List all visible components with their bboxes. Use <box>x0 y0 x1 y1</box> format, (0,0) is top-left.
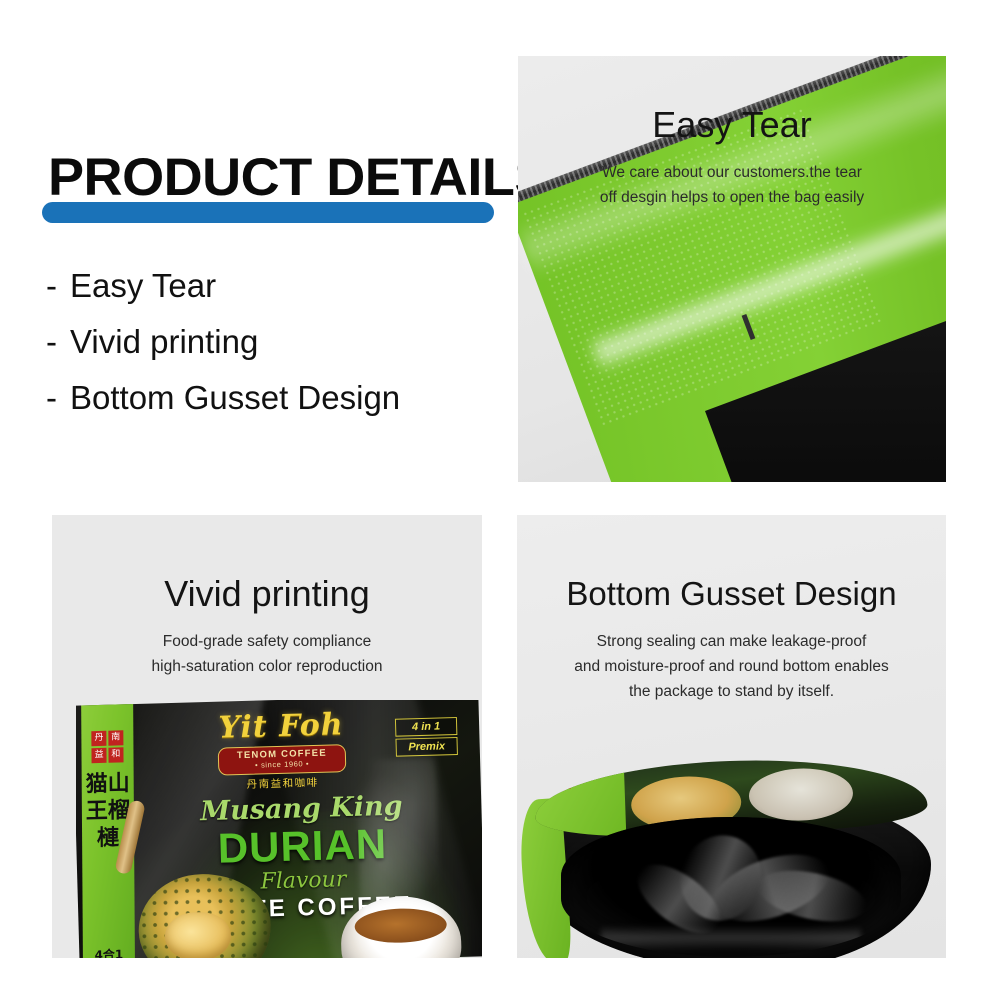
panel-subtitle-line: off desgin helps to open the bag easily <box>518 185 946 210</box>
list-item-label: Vivid printing <box>70 314 258 370</box>
badge-line2: Premix <box>395 737 457 757</box>
panel-subtitle: Food-grade safety compliance high-satura… <box>52 629 482 679</box>
panel-subtitle: Strong sealing can make leakage-proof an… <box>517 629 946 704</box>
panel-title: Bottom Gusset Design <box>517 573 946 615</box>
panel-easy-tear: Easy Tear We care about our customers.th… <box>518 56 946 482</box>
pouch-open-mouth <box>561 817 901 957</box>
package-front: 丹 南 益 和 猫山王榴槤 4合1 Yit Foh TENOM COFFEE •… <box>76 700 482 958</box>
panel-vivid-printing: Vivid printing Food-grade safety complia… <box>52 515 482 958</box>
list-item-label: Bottom Gusset Design <box>70 370 400 426</box>
coffee-liquid <box>354 907 447 944</box>
panel-subtitle-line: high-saturation color reproduction <box>52 654 482 679</box>
pouch-gloss <box>601 925 861 951</box>
list-item-label: Easy Tear <box>70 258 216 314</box>
premix-badge: 4 in 1 Premix <box>395 717 458 757</box>
badge-line1: 4 in 1 <box>395 717 457 737</box>
heading-block: PRODUCT DETAILS <box>40 150 510 240</box>
band-green-area <box>534 765 626 840</box>
durian-flesh <box>164 911 231 958</box>
easy-tear-caption: Easy Tear We care about our customers.th… <box>518 104 946 210</box>
durian-coffee-package-photo: 丹 南 益 和 猫山王榴槤 4合1 Yit Foh TENOM COFFEE •… <box>76 700 482 958</box>
product-details-page: PRODUCT DETAILS - Easy Tear - Vivid prin… <box>0 0 1000 1000</box>
gusset-crease <box>753 862 870 930</box>
brand-script-name: Yit Foh <box>201 708 362 746</box>
bullet-dash: - <box>46 314 70 370</box>
brand-logo: Yit Foh TENOM COFFEE • since 1960 • 丹南益和… <box>201 708 363 793</box>
panel-title: Easy Tear <box>518 104 946 146</box>
vivid-printing-caption: Vivid printing Food-grade safety complia… <box>52 573 482 679</box>
page-title: PRODUCT DETAILS <box>48 150 550 206</box>
panel-bottom-gusset: Bottom Gusset Design Strong sealing can … <box>517 515 946 958</box>
strip-footer-text: 4合1 <box>83 945 135 958</box>
panel-subtitle-line: We care about our customers.the tear <box>518 160 946 185</box>
brand-seal-icon: 丹 南 益 和 <box>91 730 123 763</box>
panel-subtitle: We care about our customers.the tear off… <box>518 160 946 210</box>
panel-title: Vivid printing <box>52 573 482 615</box>
seal-char: 和 <box>108 747 123 763</box>
stand-up-pouch <box>531 765 931 958</box>
band-coffee-cup-image <box>748 767 854 823</box>
steam-effect <box>356 758 440 910</box>
panel-subtitle-line: and moisture-proof and round bottom enab… <box>517 654 946 679</box>
bottom-gusset-caption: Bottom Gusset Design Strong sealing can … <box>517 573 946 704</box>
list-item: - Bottom Gusset Design <box>46 370 506 426</box>
seal-char: 益 <box>91 748 106 764</box>
seal-char: 南 <box>108 730 123 746</box>
brand-banner: TENOM COFFEE • since 1960 • <box>218 744 347 776</box>
list-item: - Easy Tear <box>46 258 506 314</box>
seal-char: 丹 <box>91 731 106 747</box>
panel-subtitle-line: Strong sealing can make leakage-proof <box>517 629 946 654</box>
feature-list: - Easy Tear - Vivid printing - Bottom Gu… <box>46 258 506 426</box>
panel-subtitle-line: the package to stand by itself. <box>517 679 946 704</box>
bullet-dash: - <box>46 258 70 314</box>
panel-subtitle-line: Food-grade safety compliance <box>52 629 482 654</box>
bullet-dash: - <box>46 370 70 426</box>
list-item: - Vivid printing <box>46 314 506 370</box>
band-seal-icon <box>548 777 570 790</box>
